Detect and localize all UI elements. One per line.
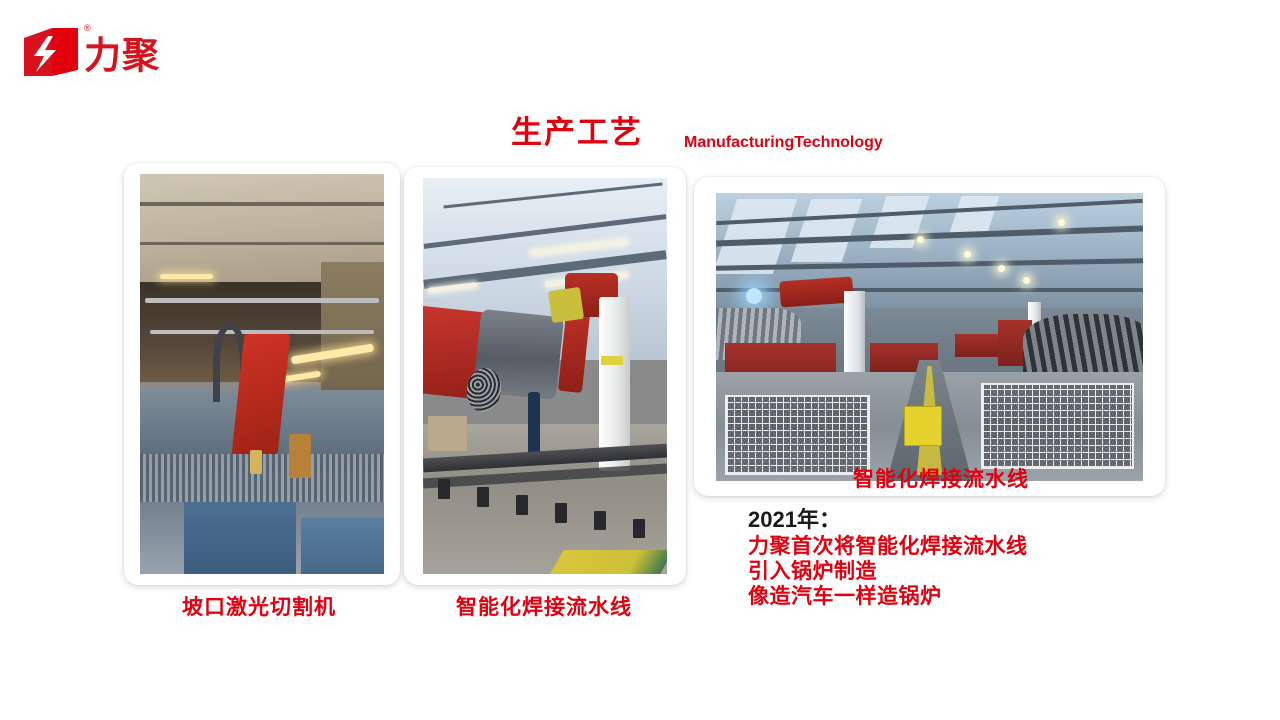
photo-gouge-laser-cutter — [140, 174, 384, 574]
photo-smart-welding-line-wide — [716, 193, 1143, 481]
photo-illustration — [423, 178, 667, 574]
caption-smart-welding-line-wide: 智能化焊接流水线 — [853, 466, 1029, 494]
page-title-zh: 生产工艺 — [511, 114, 643, 152]
slide-canvas: ® 力聚 生产工艺 ManufacturingTechnology — [0, 0, 1280, 720]
caption-smart-welding-line: 智能化焊接流水线 — [456, 594, 632, 622]
company-logo: ® 力聚 — [22, 22, 202, 84]
note-line-1: 力聚首次将智能化焊接流水线 — [748, 534, 1168, 559]
note-line-2: 引入锅炉制造 — [748, 559, 1168, 584]
photo-card-smart-welding-line — [404, 167, 686, 585]
brand-name: 力聚 — [84, 34, 160, 78]
liju-lightning-logo-icon — [22, 26, 80, 78]
photo-smart-welding-line — [423, 178, 667, 574]
note-year: 2021年： — [748, 505, 1168, 534]
photo-illustration — [716, 193, 1143, 481]
note-line-3: 像造汽车一样造锅炉 — [748, 584, 1168, 609]
photo-card-smart-welding-line-wide: 智能化焊接流水线 — [694, 177, 1165, 496]
page-title-en: ManufacturingTechnology — [684, 133, 883, 153]
caption-gouge-laser-cutter: 坡口激光切割机 — [182, 594, 336, 622]
photo-illustration — [140, 174, 384, 574]
note-block: 2021年： 力聚首次将智能化焊接流水线 引入锅炉制造 像造汽车一样造锅炉 — [748, 505, 1168, 609]
photo-card-gouge-laser-cutter — [124, 163, 400, 585]
registered-mark: ® — [84, 24, 91, 33]
